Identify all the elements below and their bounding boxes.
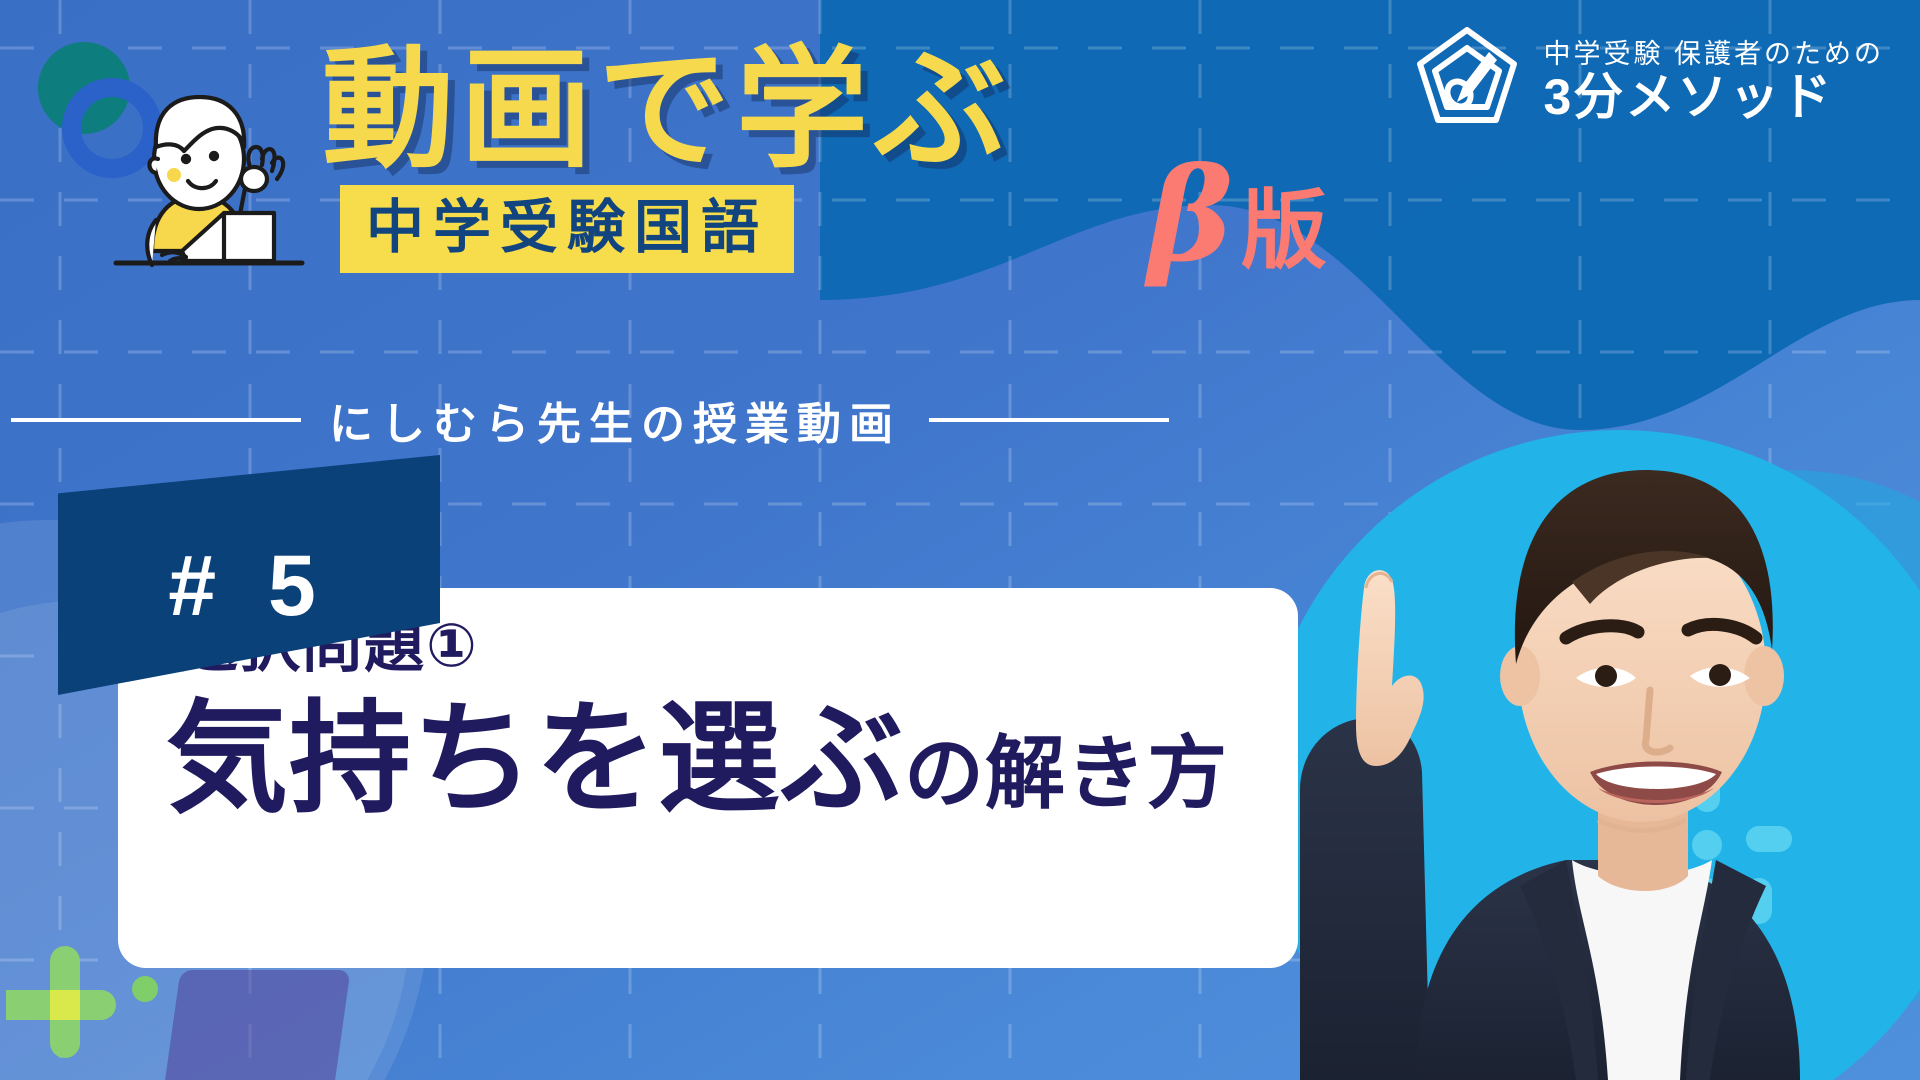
rule-left (11, 418, 301, 422)
subtitle-text: 中学受験国語 (366, 195, 768, 260)
green-dot (132, 976, 158, 1002)
episode-headline: 気持ちを選ぶの解き方 (166, 698, 1228, 820)
brand-tagline: 中学受験 保護者のための (1543, 39, 1884, 69)
student-at-laptop-illustration (74, 55, 344, 300)
decor-purple-blob (159, 970, 350, 1080)
presenter-label: にしむら先生の授業動画 (329, 388, 901, 452)
brand-logo: 中学受験 保護者のための 3分メソッド (1413, 24, 1884, 140)
brand-name: 3分メソッド (1543, 69, 1884, 125)
green-plus-icon (6, 942, 126, 1062)
thumbnail-canvas: 動画で学ぶ 中学受験国語 β版 にしむら先生の授業動画 中学受験 保護者のための… (0, 0, 1920, 1080)
page-title: 動画で学ぶ (322, 44, 1012, 176)
subtitle-banner: 中学受験国語 (340, 185, 794, 273)
presenter-line: にしむら先生の授業動画 (0, 388, 1180, 452)
episode-headline-main: 気持ちを選ぶ (166, 691, 904, 827)
brand-logo-text: 中学受験 保護者のための 3分メソッド (1543, 39, 1884, 125)
beta-greek-letter: β (1148, 141, 1233, 291)
beta-badge: β版 (1148, 152, 1327, 280)
episode-number-label: # 5 (58, 543, 440, 629)
beta-version-label: 版 (1241, 183, 1327, 279)
teacher-portrait-photo (1180, 320, 1920, 1080)
pentagon-pen-icon (1413, 24, 1521, 140)
rule-right (929, 418, 1169, 422)
